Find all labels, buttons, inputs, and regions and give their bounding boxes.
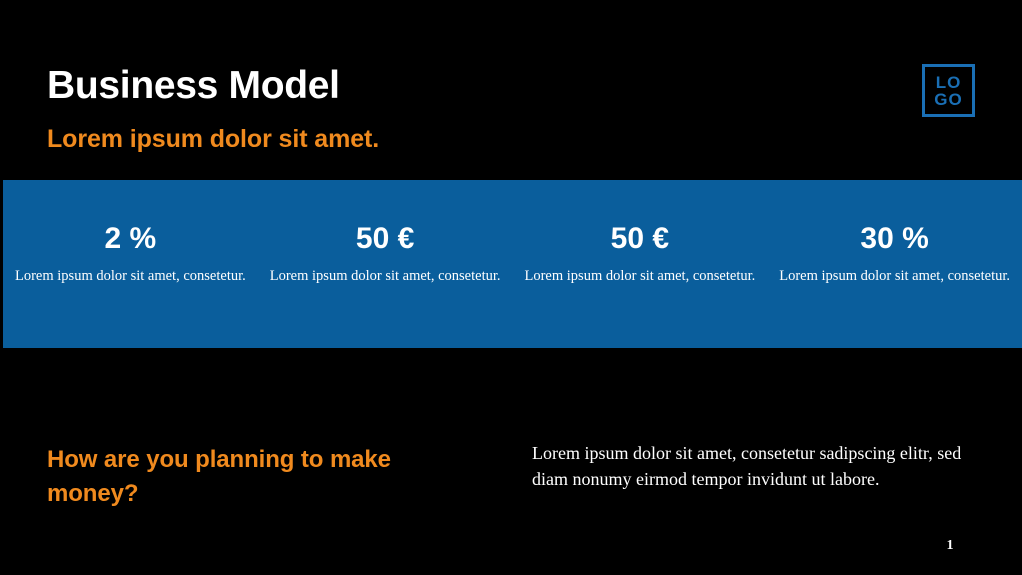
page-number: 1 [930, 538, 970, 554]
stat-column: 2 % Lorem ipsum dolor sit amet, consetet… [3, 180, 258, 286]
stat-description: Lorem ipsum dolor sit amet, consetetur. [270, 267, 501, 286]
stat-description: Lorem ipsum dolor sit amet, consetetur. [779, 267, 1010, 286]
stat-description: Lorem ipsum dolor sit amet, consetetur. [15, 267, 246, 286]
logo-line-top: LO [936, 74, 962, 91]
slide-canvas: Business Model Lorem ipsum dolor sit ame… [0, 0, 1022, 575]
stat-column: 30 % Lorem ipsum dolor sit amet, consete… [767, 180, 1022, 286]
stat-value: 50 € [270, 223, 501, 255]
question-heading: How are you planning to make money? [47, 443, 467, 511]
stat-column: 50 € Lorem ipsum dolor sit amet, consete… [513, 180, 768, 286]
stat-column: 50 € Lorem ipsum dolor sit amet, consete… [258, 180, 513, 286]
stat-value: 30 % [779, 223, 1010, 255]
page-subtitle: Lorem ipsum dolor sit amet. [47, 126, 379, 154]
body-paragraph: Lorem ipsum dolor sit amet, consetetur s… [532, 441, 984, 492]
stat-description: Lorem ipsum dolor sit amet, consetetur. [525, 267, 756, 286]
page-title: Business Model [47, 66, 340, 107]
stats-band: 2 % Lorem ipsum dolor sit amet, consetet… [3, 180, 1022, 348]
stat-value: 50 € [525, 223, 756, 255]
logo: LO GO [922, 64, 975, 117]
logo-line-bottom: GO [934, 91, 962, 108]
stat-value: 2 % [15, 223, 246, 255]
